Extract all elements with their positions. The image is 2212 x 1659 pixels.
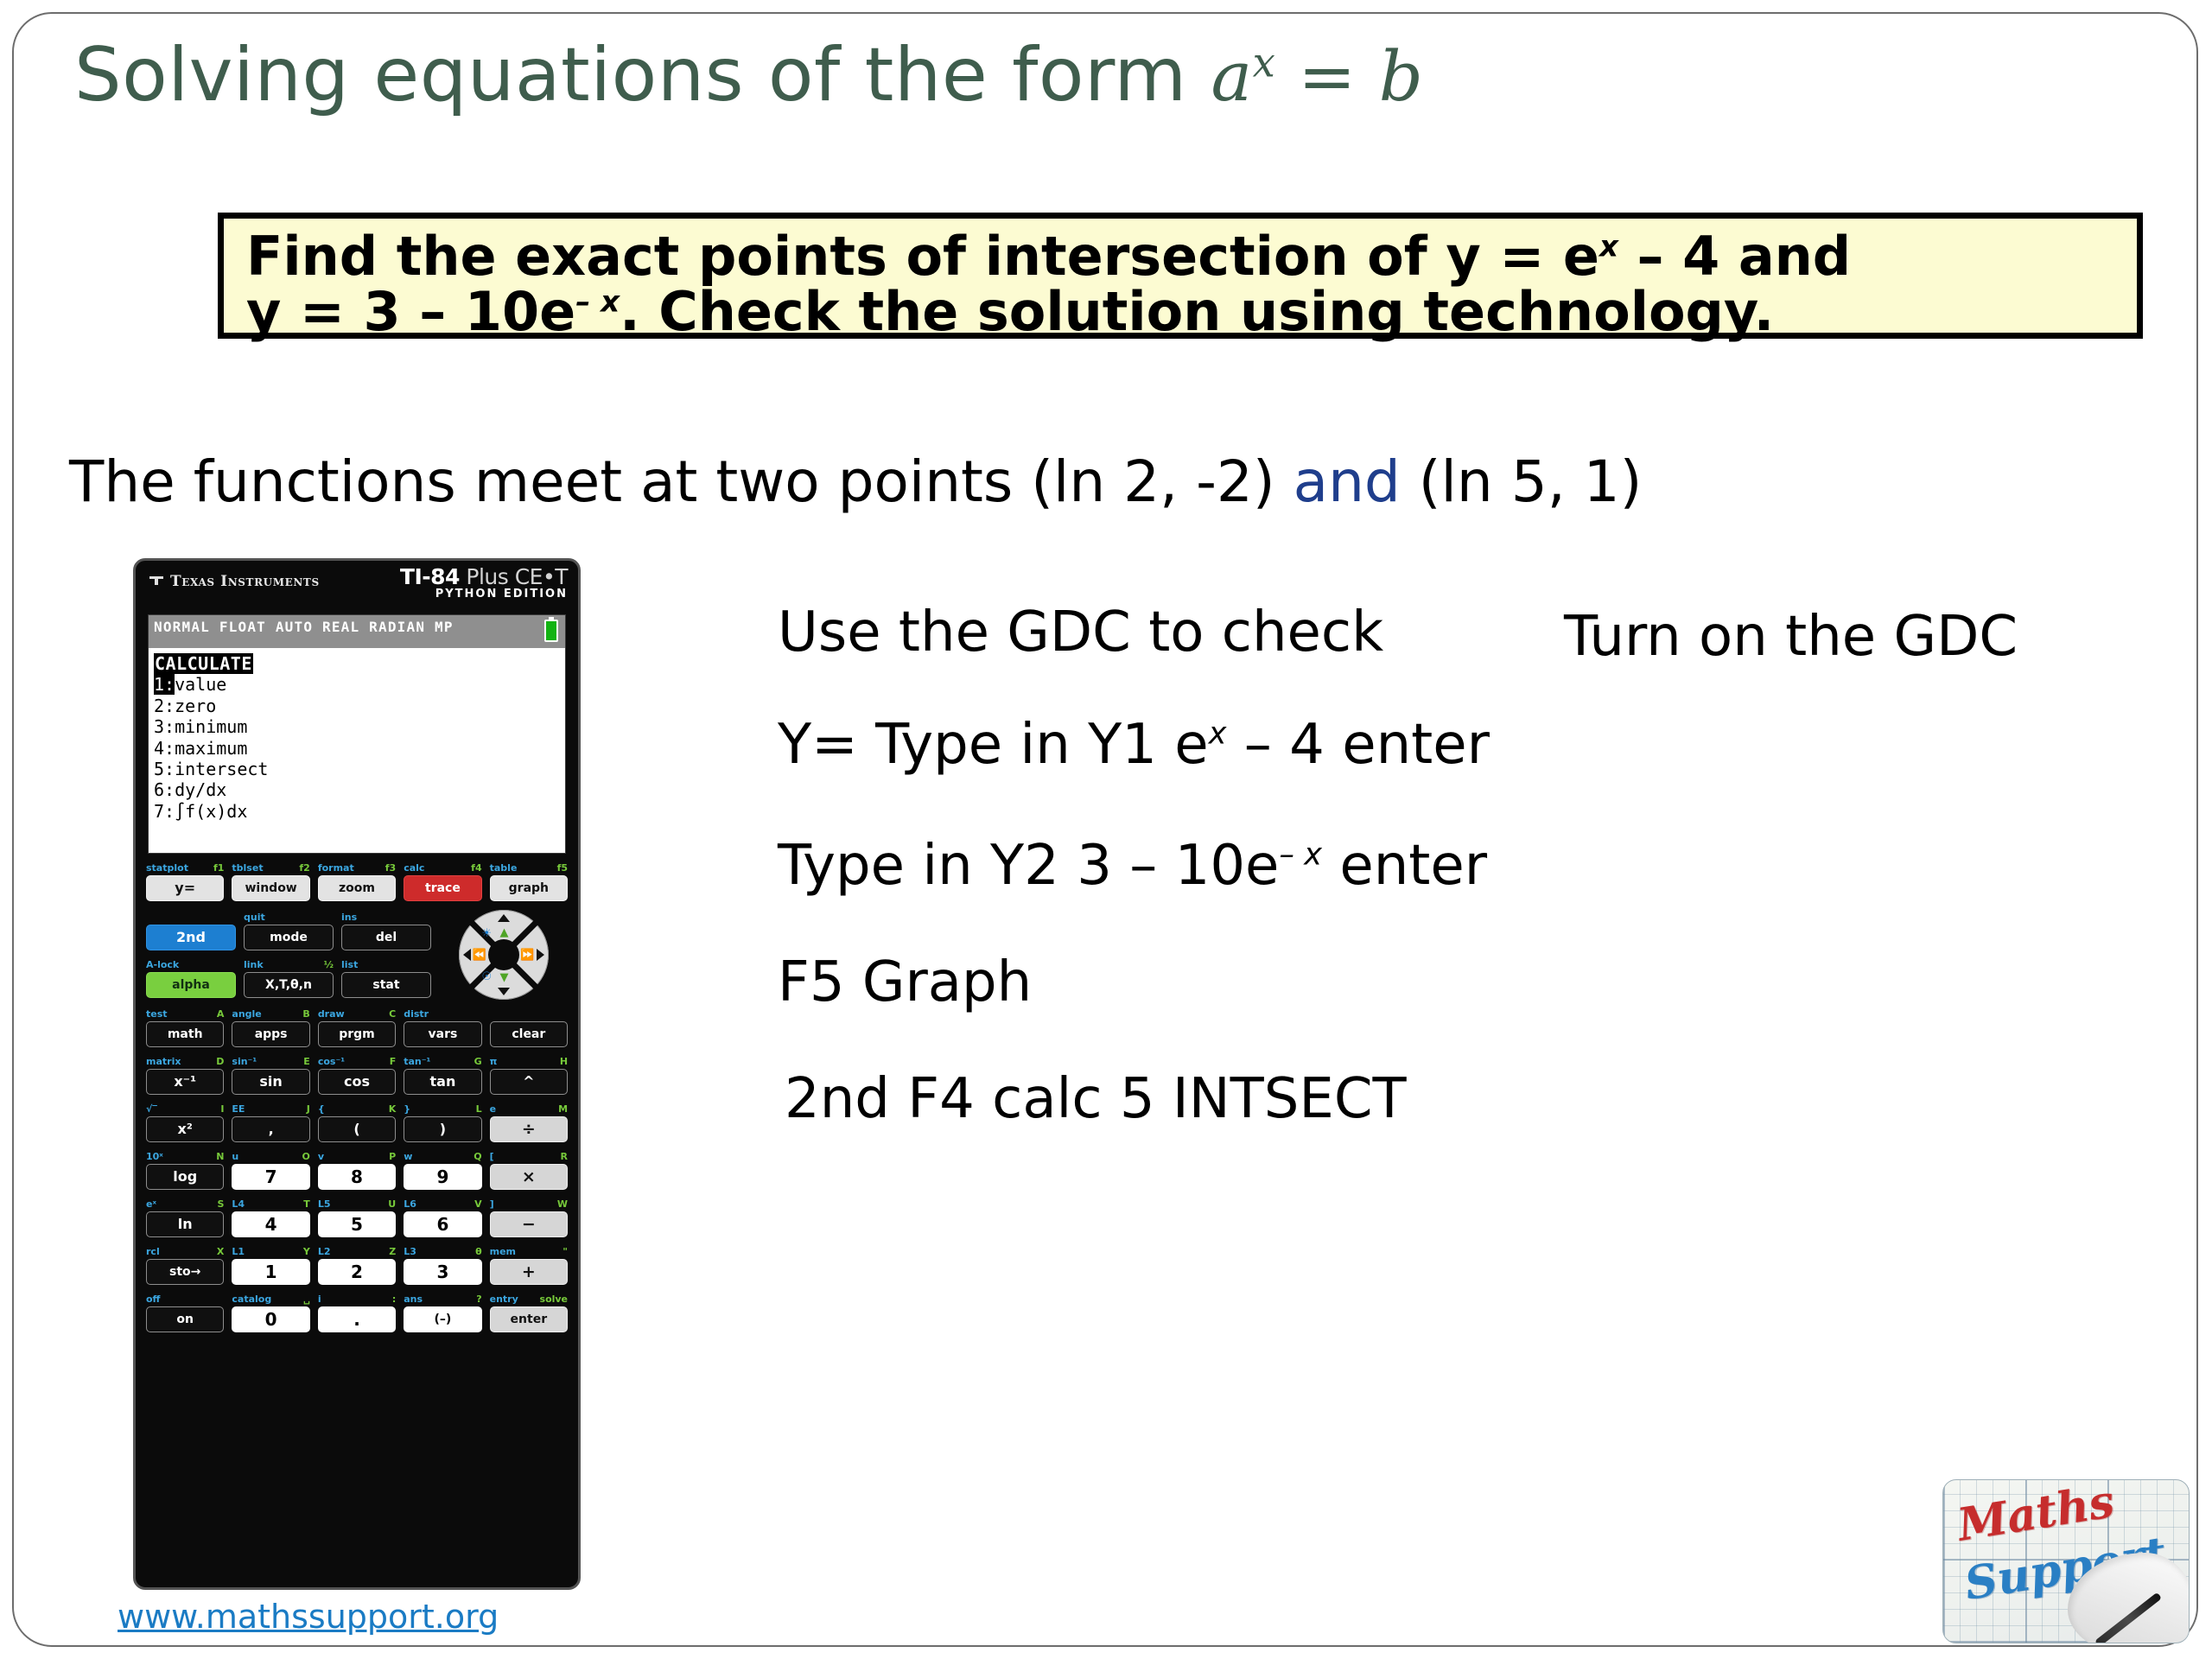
key-secondary-labels xyxy=(146,910,236,924)
arrow-down-icon[interactable] xyxy=(498,988,510,995)
instruction-y1-pre: Y= Type in Y1 e xyxy=(778,713,1209,777)
secondary-label-2nd: ] xyxy=(490,1199,494,1209)
menu-item-number: 4: xyxy=(154,738,175,759)
key-column: 9 xyxy=(404,1164,481,1190)
screen-menu-item[interactable]: 5:intersect xyxy=(154,759,565,779)
secondary-label-2nd: 10ˣ xyxy=(146,1152,163,1161)
key-secondary-labels: wQ xyxy=(404,1149,481,1163)
secondary-labels-row-8: rclXL1YL2ZL3θmem" xyxy=(146,1244,568,1258)
secondary-label-alpha: X xyxy=(217,1247,224,1256)
key-column: ( xyxy=(318,1116,396,1142)
key-secondary-labels: tan⁻¹G xyxy=(404,1054,481,1068)
key-secondary-labels: uO xyxy=(232,1149,309,1163)
calculator-key-enter[interactable]: enter xyxy=(490,1306,568,1332)
secondary-label-2nd: tblset xyxy=(232,863,263,873)
secondary-label-alpha: S xyxy=(217,1199,224,1209)
secondary-label-2nd: u xyxy=(232,1152,238,1161)
calculator-key-ln[interactable]: ln xyxy=(146,1211,224,1237)
calculator-key-2[interactable]: 2 xyxy=(318,1259,396,1285)
key-column: tan xyxy=(404,1069,481,1095)
key-secondary-labels: testA xyxy=(146,1007,224,1020)
key-secondary-labels: distr xyxy=(404,1007,481,1020)
secondary-label-alpha: ? xyxy=(476,1294,481,1304)
key-column: stat xyxy=(341,972,431,998)
key-row-2: alphaX,T,θ,nstat xyxy=(146,972,431,998)
secondary-label-alpha: P xyxy=(389,1152,396,1161)
navigation-left-keys: quitins 2ndmodedel A-locklink½list alpha… xyxy=(146,910,431,1000)
secondary-label-alpha: " xyxy=(563,1247,568,1256)
key-column: . xyxy=(318,1306,396,1332)
screen-menu-item[interactable]: 4:maximum xyxy=(154,738,565,759)
key-column: X,T,θ,n xyxy=(244,972,334,998)
secondary-label-alpha: W xyxy=(557,1199,568,1209)
key-column: x⁻¹ xyxy=(146,1069,224,1095)
key-column: 4 xyxy=(232,1211,309,1237)
skip-back-icon: ⏪ xyxy=(473,950,486,961)
secondary-label-2nd: w xyxy=(404,1152,412,1161)
menu-item-number: 1: xyxy=(154,674,175,695)
question-line-2-pre: y = 3 – 10e xyxy=(246,280,575,343)
key-secondary-labels: formatf3 xyxy=(318,861,396,874)
key-secondary-labels: }L xyxy=(404,1102,481,1116)
brand-name-label: Texas Instruments xyxy=(170,573,320,590)
key-column: vars xyxy=(404,1021,481,1047)
calculator-key-mode[interactable]: mode xyxy=(244,925,334,950)
calculator-key-sto[interactable]: sto→ xyxy=(146,1259,224,1285)
key-secondary-labels: πH xyxy=(490,1054,568,1068)
key-secondary-labels: link½ xyxy=(244,957,334,971)
secondary-label-alpha: ½ xyxy=(324,960,334,969)
secondary-label-2nd: calc xyxy=(404,863,424,873)
key-secondary-labels: tablef5 xyxy=(490,861,568,874)
secondary-label-2nd: A-lock xyxy=(146,960,179,969)
ti-84-calculator: Texas Instruments TI-84 Plus CE•T PYTHON… xyxy=(133,558,581,1590)
instruction-y2-exponent: – x xyxy=(1279,837,1322,873)
key-row-7: ln456− xyxy=(146,1211,568,1237)
key-row-0: y=windowzoomtracegraph xyxy=(146,875,568,901)
secondary-label-alpha: Z xyxy=(389,1247,396,1256)
secondary-label-alpha: θ xyxy=(475,1247,482,1256)
secondary-label-alpha: R xyxy=(561,1152,568,1161)
key-column: enter xyxy=(490,1306,568,1332)
key-secondary-labels xyxy=(490,1007,568,1020)
menu-item-label: maximum xyxy=(175,738,247,759)
secondary-label-alpha: f3 xyxy=(385,863,396,873)
calculator-key-del[interactable]: del xyxy=(341,925,431,950)
secondary-label-alpha: : xyxy=(392,1294,396,1304)
calculator-key-2nd[interactable]: 2nd xyxy=(146,925,236,950)
key-secondary-labels: list xyxy=(341,957,431,971)
key-column: alpha xyxy=(146,972,236,998)
secondary-label-2nd: v xyxy=(318,1152,324,1161)
key-secondary-labels: L3θ xyxy=(404,1244,481,1258)
dpad-wrapper: ☀ ▲ ☉ ▼ ⏪ ⏩ xyxy=(439,910,568,1000)
screen-menu-item[interactable]: 7:∫f(x)dx xyxy=(154,801,565,822)
menu-item-number: 5: xyxy=(154,759,175,779)
instruction-type-y2: Type in Y2 3 – 10e– x enter xyxy=(778,838,1487,893)
calculator-model-label: TI-84 Plus CE•T PYTHON EDITION xyxy=(400,566,568,600)
secondary-label-2nd: angle xyxy=(232,1009,261,1019)
menu-item-label: value xyxy=(175,674,226,695)
key-secondary-labels: catalog␣ xyxy=(232,1292,309,1306)
secondary-label-2nd: statplot xyxy=(146,863,188,873)
calculator-key-[interactable]: ( xyxy=(318,1116,396,1142)
secondary-label-2nd: distr xyxy=(404,1009,429,1019)
secondary-label-2nd: catalog xyxy=(232,1294,271,1304)
key-column: 8 xyxy=(318,1164,396,1190)
calculator-key-log[interactable]: log xyxy=(146,1164,224,1190)
secondary-label-2nd: L3 xyxy=(404,1247,416,1256)
secondary-label-alpha: B xyxy=(302,1009,309,1019)
key-row-4: x⁻¹sincostan^ xyxy=(146,1069,568,1095)
instruction-turn-on-gdc: Turn on the GDC xyxy=(1564,609,2018,664)
instruction-y2-pre: Type in Y2 3 – 10e xyxy=(778,834,1279,898)
formula-tail: = b xyxy=(1275,36,1423,117)
question-line-2-exponent: – x xyxy=(575,284,620,319)
calculator-key-8[interactable]: 8 xyxy=(318,1164,396,1190)
instruction-type-y1: Y= Type in Y1 ex – 4 enter xyxy=(778,717,1490,772)
screen-menu-body: CALCULATE 1:value2:zero3:minimum4:maximu… xyxy=(149,648,565,822)
menu-item-number: 7: xyxy=(154,801,175,822)
secondary-label-2nd: { xyxy=(318,1104,325,1114)
key-secondary-labels: mem" xyxy=(490,1244,568,1258)
secondary-label-2nd: format xyxy=(318,863,354,873)
screen-menu-item[interactable]: 2:zero xyxy=(154,696,565,716)
instruction-intersect: 2nd F4 calc 5 INTSECT xyxy=(785,1071,1407,1127)
menu-item-number: 6: xyxy=(154,779,175,800)
calculator-key-0[interactable]: 0 xyxy=(232,1306,309,1332)
model-line-2: PYTHON EDITION xyxy=(400,588,568,600)
question-line-2: y = 3 – 10e– x. Check the solution using… xyxy=(246,284,2114,340)
calculator-key-math[interactable]: math xyxy=(146,1021,224,1047)
secondary-label-2nd: ans xyxy=(404,1294,423,1304)
secondary-labels-row-0: statplotf1tblsetf2formatf3calcf4tablef5 xyxy=(146,861,568,874)
key-column: 0 xyxy=(232,1306,309,1332)
skip-forward-icon: ⏩ xyxy=(520,950,534,961)
key-secondary-labels: drawC xyxy=(318,1007,396,1020)
secondary-label-2nd: } xyxy=(404,1104,410,1114)
key-column: ln xyxy=(146,1211,224,1237)
key-secondary-labels: √‾I xyxy=(146,1102,224,1116)
key-secondary-labels: rclX xyxy=(146,1244,224,1258)
lower-key-rows: testAangleBdrawCdistrmathappsprgmvarscle… xyxy=(146,1007,568,1332)
secondary-label-2nd: eˣ xyxy=(146,1199,156,1209)
key-secondary-labels: ins xyxy=(341,910,431,924)
key-column: − xyxy=(490,1211,568,1237)
calculator-key-window[interactable]: window xyxy=(232,875,309,901)
question-line-1-exponent: x xyxy=(1599,229,1618,264)
menu-item-number: 2: xyxy=(154,696,175,716)
secondary-label-alpha: N xyxy=(216,1152,224,1161)
screen-menu-title: CALCULATE xyxy=(154,653,253,674)
directional-pad[interactable]: ☀ ▲ ☉ ▼ ⏪ ⏩ xyxy=(459,910,549,1000)
calculator-key-x[interactable]: x² xyxy=(146,1116,224,1142)
key-column: 6 xyxy=(404,1211,481,1237)
calculator-key-7[interactable]: 7 xyxy=(232,1164,309,1190)
secondary-label-2nd: table xyxy=(490,863,518,873)
secondary-label-alpha: C xyxy=(389,1009,396,1019)
key-secondary-labels: L1Y xyxy=(232,1244,309,1258)
secondary-labels-row-5: √‾IEEJ{K}LeM xyxy=(146,1102,568,1116)
key-secondary-labels: tblsetf2 xyxy=(232,861,309,874)
key-column: x² xyxy=(146,1116,224,1142)
key-column: 2nd xyxy=(146,925,236,950)
key-column: on xyxy=(146,1306,224,1332)
calculator-key-4[interactable]: 4 xyxy=(232,1211,309,1237)
key-secondary-labels: L5U xyxy=(318,1197,396,1211)
key-secondary-labels: vP xyxy=(318,1149,396,1163)
question-line-1-pre: Find the exact points of intersection of… xyxy=(246,225,1599,288)
model-light: Plus CE•T xyxy=(460,564,568,589)
calculator-key-6[interactable]: 6 xyxy=(404,1211,481,1237)
key-column: log xyxy=(146,1164,224,1190)
arrow-up-icon[interactable] xyxy=(498,914,510,922)
secondary-label-alpha: ␣ xyxy=(303,1294,310,1304)
navigation-block: quitins 2ndmodedel A-locklink½list alpha… xyxy=(146,910,568,1000)
calculator-key-alpha[interactable]: alpha xyxy=(146,972,236,998)
calculator-key-[interactable]: (–) xyxy=(404,1306,481,1332)
calculator-key-[interactable]: , xyxy=(232,1116,309,1142)
secondary-label-alpha: A xyxy=(217,1009,225,1019)
key-secondary-labels: L6V xyxy=(404,1197,481,1211)
secondary-label-alpha: K xyxy=(389,1104,397,1114)
secondary-label-2nd: entry xyxy=(490,1294,518,1304)
instruction-graph: F5 Graph xyxy=(778,955,1032,1010)
secondary-label-alpha: H xyxy=(560,1057,568,1066)
maths-support-logo: Maths Support xyxy=(1942,1479,2190,1643)
secondary-labels-row-9: offcatalog␣i:ans?entrysolve xyxy=(146,1292,568,1306)
key-secondary-labels: [R xyxy=(490,1149,568,1163)
secondary-label-alpha: f5 xyxy=(557,863,568,873)
secondary-label-2nd: sin⁻¹ xyxy=(232,1057,257,1066)
key-column: ÷ xyxy=(490,1116,568,1142)
formula-base: a xyxy=(1211,36,1252,117)
key-secondary-labels: quit xyxy=(244,910,334,924)
key-secondary-labels: angleB xyxy=(232,1007,309,1020)
footer-website-link[interactable]: www.mathssupport.org xyxy=(118,1598,499,1636)
key-secondary-labels: i: xyxy=(318,1292,396,1306)
secondary-label-alpha: Y xyxy=(303,1247,310,1256)
secondary-label-2nd: e xyxy=(490,1104,496,1114)
calculator-key-[interactable]: − xyxy=(490,1211,568,1237)
secondary-label-2nd: link xyxy=(244,960,264,969)
calculator-key-[interactable]: × xyxy=(490,1164,568,1190)
meet-line-conjunction: and xyxy=(1294,448,1401,515)
menu-item-label: dy/dx xyxy=(175,779,226,800)
page-title-text: Solving equations of the form xyxy=(74,32,1211,118)
screen-status-bar: NORMAL FLOAT AUTO REAL RADIAN MP xyxy=(149,615,565,648)
secondary-label-alpha: I xyxy=(220,1104,224,1114)
key-column: sin xyxy=(232,1069,309,1095)
key-column: zoom xyxy=(318,875,396,901)
calculator-key-[interactable]: ^ xyxy=(490,1069,568,1095)
secondary-label-alpha: G xyxy=(474,1057,482,1066)
key-secondary-labels: cos⁻¹F xyxy=(318,1054,396,1068)
calculator-key-9[interactable]: 9 xyxy=(404,1164,481,1190)
calculator-key-cos[interactable]: cos xyxy=(318,1069,396,1095)
instruction-y1-post: – 4 enter xyxy=(1226,713,1489,777)
key-secondary-labels: 10ˣN xyxy=(146,1149,224,1163)
calculator-key-apps[interactable]: apps xyxy=(232,1021,309,1047)
question-line-1: Find the exact points of intersection of… xyxy=(246,229,2114,284)
calculator-key-sin[interactable]: sin xyxy=(232,1069,309,1095)
contrast-down-icon: ▼ xyxy=(500,972,509,983)
key-row-9: on0.(–)enter xyxy=(146,1306,568,1332)
key-column: sto→ xyxy=(146,1259,224,1285)
key-column: prgm xyxy=(318,1021,396,1047)
secondary-label-2nd: test xyxy=(146,1009,168,1019)
secondary-label-alpha: L xyxy=(476,1104,482,1114)
secondary-label-2nd: √‾ xyxy=(146,1104,157,1114)
key-secondary-labels: EEJ xyxy=(232,1102,309,1116)
instruction-y1-exponent: x xyxy=(1209,716,1227,752)
secondary-labels-row-1: quitins xyxy=(146,910,431,924)
meet-line-post: (ln 5, 1) xyxy=(1401,448,1643,515)
arrow-right-icon[interactable] xyxy=(537,949,544,961)
secondary-labels-row-3: testAangleBdrawCdistr xyxy=(146,1007,568,1020)
screen-menu-item[interactable]: 6:dy/dx xyxy=(154,779,565,800)
key-column: ) xyxy=(404,1116,481,1142)
secondary-label-2nd: draw xyxy=(318,1009,345,1019)
secondary-label-alpha: M xyxy=(558,1104,568,1114)
arrow-left-icon[interactable] xyxy=(463,949,471,961)
question-line-1-post: – 4 and xyxy=(1618,225,1851,288)
calculator-lcd-screen[interactable]: NORMAL FLOAT AUTO REAL RADIAN MP CALCULA… xyxy=(148,614,566,854)
secondary-label-alpha: f1 xyxy=(213,863,224,873)
menu-item-number: 3: xyxy=(154,716,175,737)
key-column: 2 xyxy=(318,1259,396,1285)
model-line-1: TI-84 Plus CE•T xyxy=(400,566,568,588)
key-column: y= xyxy=(146,875,224,901)
texas-instruments-logo-icon xyxy=(148,575,165,587)
secondary-label-alpha: T xyxy=(303,1199,310,1209)
secondary-labels-row-7: eˣSL4TL5UL6V]W xyxy=(146,1197,568,1211)
key-column: (–) xyxy=(404,1306,481,1332)
question-line-2-post: . Check the solution using technology. xyxy=(620,280,1774,343)
secondary-label-2nd: tan⁻¹ xyxy=(404,1057,430,1066)
secondary-label-alpha: F xyxy=(390,1057,397,1066)
model-bold: TI-84 xyxy=(400,564,460,589)
calculator-key-vars[interactable]: vars xyxy=(404,1021,481,1047)
calculator-key-5[interactable]: 5 xyxy=(318,1211,396,1237)
calculator-key-[interactable]: ) xyxy=(404,1116,481,1142)
calculator-key-trace[interactable]: trace xyxy=(404,875,481,901)
key-secondary-labels: eM xyxy=(490,1102,568,1116)
key-column: 3 xyxy=(404,1259,481,1285)
key-row-3: mathappsprgmvarsclear xyxy=(146,1021,568,1047)
secondary-label-alpha: f2 xyxy=(299,863,309,873)
calculator-key-clear[interactable]: clear xyxy=(490,1021,568,1047)
key-column: clear xyxy=(490,1021,568,1047)
secondary-label-2nd: L6 xyxy=(404,1199,416,1209)
key-column: 7 xyxy=(232,1164,309,1190)
secondary-label-2nd: π xyxy=(490,1057,498,1066)
secondary-label-alpha: V xyxy=(474,1199,482,1209)
secondary-label-2nd: EE xyxy=(232,1104,245,1114)
secondary-labels-row-2: A-locklink½list xyxy=(146,957,431,971)
calculator-key-[interactable]: + xyxy=(490,1259,568,1285)
calculator-key-[interactable]: ÷ xyxy=(490,1116,568,1142)
calculator-key-on[interactable]: on xyxy=(146,1306,224,1332)
formula-exponent: x xyxy=(1253,39,1276,86)
secondary-label-alpha: J xyxy=(307,1104,310,1114)
secondary-label-2nd: list xyxy=(341,960,358,969)
key-secondary-labels: ans? xyxy=(404,1292,481,1306)
menu-item-label: zero xyxy=(175,696,216,716)
key-column: × xyxy=(490,1164,568,1190)
meet-line-pre: The functions meet at two points (ln 2, … xyxy=(69,448,1294,515)
key-column: 1 xyxy=(232,1259,309,1285)
calculator-key-y[interactable]: y= xyxy=(146,875,224,901)
secondary-label-alpha: solve xyxy=(540,1294,569,1304)
secondary-label-2nd: L2 xyxy=(318,1247,331,1256)
key-secondary-labels: eˣS xyxy=(146,1197,224,1211)
secondary-labels-row-4: matrixDsin⁻¹Ecos⁻¹Ftan⁻¹GπH xyxy=(146,1054,568,1068)
menu-item-label: ∫f(x)dx xyxy=(175,801,247,822)
secondary-label-2nd: L5 xyxy=(318,1199,331,1209)
secondary-label-2nd: ins xyxy=(341,912,357,922)
key-column: graph xyxy=(490,875,568,901)
secondary-label-2nd: rcl xyxy=(146,1247,160,1256)
calculator-key-graph[interactable]: graph xyxy=(490,875,568,901)
key-secondary-labels: A-lock xyxy=(146,957,236,971)
status-bar-text: NORMAL FLOAT AUTO REAL RADIAN MP xyxy=(154,619,454,635)
calculator-key-tan[interactable]: tan xyxy=(404,1069,481,1095)
key-column: 5 xyxy=(318,1211,396,1237)
brightness-up-icon: ☀ xyxy=(482,928,493,939)
secondary-label-alpha: U xyxy=(388,1199,396,1209)
calculator-key-x[interactable]: x⁻¹ xyxy=(146,1069,224,1095)
key-column: del xyxy=(341,925,431,950)
battery-icon xyxy=(544,620,558,642)
calculator-key-stat[interactable]: stat xyxy=(341,972,431,998)
key-column: mode xyxy=(244,925,334,950)
calculator-key-[interactable]: . xyxy=(318,1306,396,1332)
key-column: cos xyxy=(318,1069,396,1095)
key-secondary-labels: {K xyxy=(318,1102,396,1116)
key-secondary-labels: ]W xyxy=(490,1197,568,1211)
screen-menu-item[interactable]: 3:minimum xyxy=(154,716,565,737)
key-row-5: x²,()÷ xyxy=(146,1116,568,1142)
page-title: Solving equations of the form ax = b xyxy=(74,38,1423,112)
key-row-1: 2ndmodedel xyxy=(146,925,431,950)
screen-menu-item[interactable]: 1:value xyxy=(154,674,565,695)
key-column: window xyxy=(232,875,309,901)
calculator-key-XTn[interactable]: X,T,θ,n xyxy=(244,972,334,998)
secondary-label-alpha: f4 xyxy=(471,863,481,873)
question-box: Find the exact points of intersection of… xyxy=(218,213,2143,339)
key-secondary-labels: L2Z xyxy=(318,1244,396,1258)
calculator-key-prgm[interactable]: prgm xyxy=(318,1021,396,1047)
secondary-label-alpha: E xyxy=(303,1057,310,1066)
secondary-label-alpha: O xyxy=(302,1152,309,1161)
calculator-key-zoom[interactable]: zoom xyxy=(318,875,396,901)
key-column: apps xyxy=(232,1021,309,1047)
key-secondary-labels: matrixD xyxy=(146,1054,224,1068)
contrast-up-icon: ▲ xyxy=(500,927,509,938)
secondary-label-2nd: quit xyxy=(244,912,265,922)
secondary-labels-row-6: 10ˣNuOvPwQ[R xyxy=(146,1149,568,1163)
key-column: ^ xyxy=(490,1069,568,1095)
key-secondary-labels: L4T xyxy=(232,1197,309,1211)
menu-item-label: intersect xyxy=(175,759,268,779)
intersection-points-line: The functions meet at two points (ln 2, … xyxy=(69,454,1642,511)
calculator-key-1[interactable]: 1 xyxy=(232,1259,309,1285)
secondary-label-2nd: mem xyxy=(490,1247,516,1256)
secondary-label-alpha: Q xyxy=(474,1152,481,1161)
page-title-formula: ax = b xyxy=(1211,36,1423,117)
calculator-key-3[interactable]: 3 xyxy=(404,1259,481,1285)
